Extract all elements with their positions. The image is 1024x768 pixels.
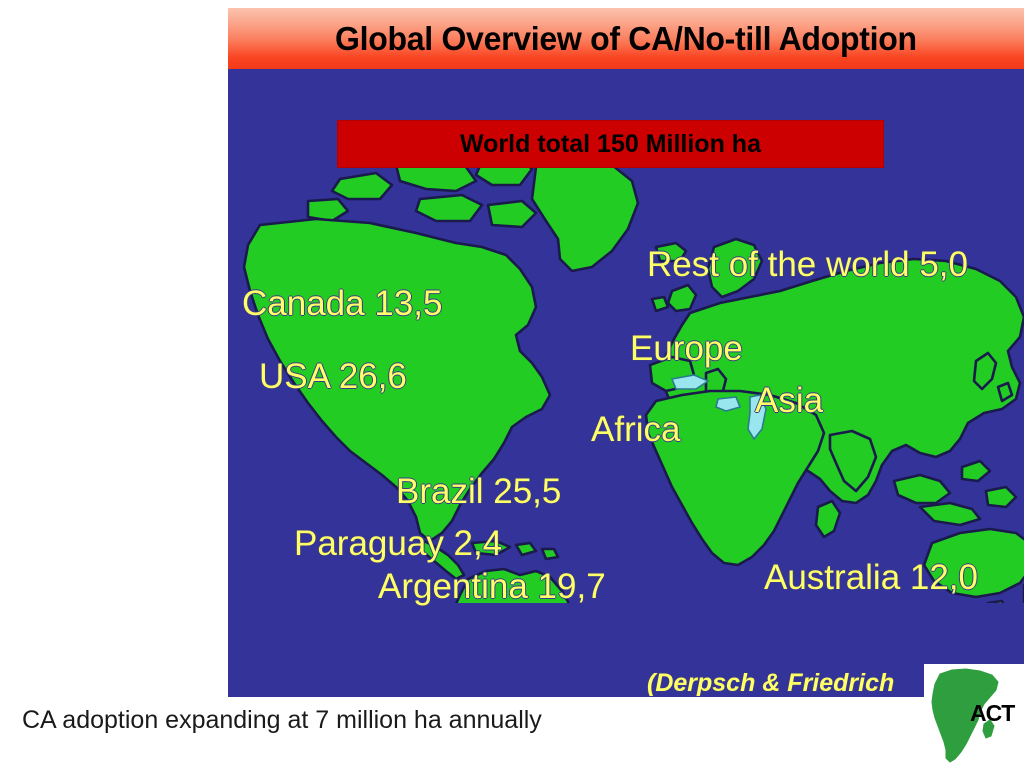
region-label-paraguay: Paraguay 2,4: [294, 526, 502, 561]
slide-caption: CA adoption expanding at 7 million ha an…: [22, 708, 542, 733]
world-map-panel: World total 150 Million ha Canada 13,5 U…: [228, 69, 1024, 697]
world-total-label: World total 150 Million ha: [460, 132, 761, 157]
world-total-box: World total 150 Million ha: [337, 120, 884, 168]
slide-title: Global Overview of CA/No-till Adoption: [335, 22, 917, 55]
region-label-europe: Europe: [630, 331, 743, 366]
region-label-asia: Asia: [755, 383, 823, 418]
region-label-usa: USA 26,6: [259, 359, 407, 394]
region-label-australia: Australia 12,0: [764, 560, 978, 595]
region-label-argentina: Argentina 19,7: [378, 569, 606, 604]
title-banner: Global Overview of CA/No-till Adoption: [228, 8, 1024, 69]
act-wordmark: ACT: [970, 702, 1014, 725]
act-logo: ACT: [924, 664, 1024, 768]
region-label-brazil: Brazil 25,5: [396, 474, 561, 509]
region-label-africa: Africa: [591, 412, 680, 447]
region-label-canada: Canada 13,5: [242, 286, 442, 321]
slide-image: Global Overview of CA/No-till Adoption: [228, 8, 1024, 697]
region-label-rest-of-the-world: Rest of the world 5,0: [647, 247, 968, 282]
attribution-text: (Derpsch & Friedrich: [647, 671, 894, 696]
